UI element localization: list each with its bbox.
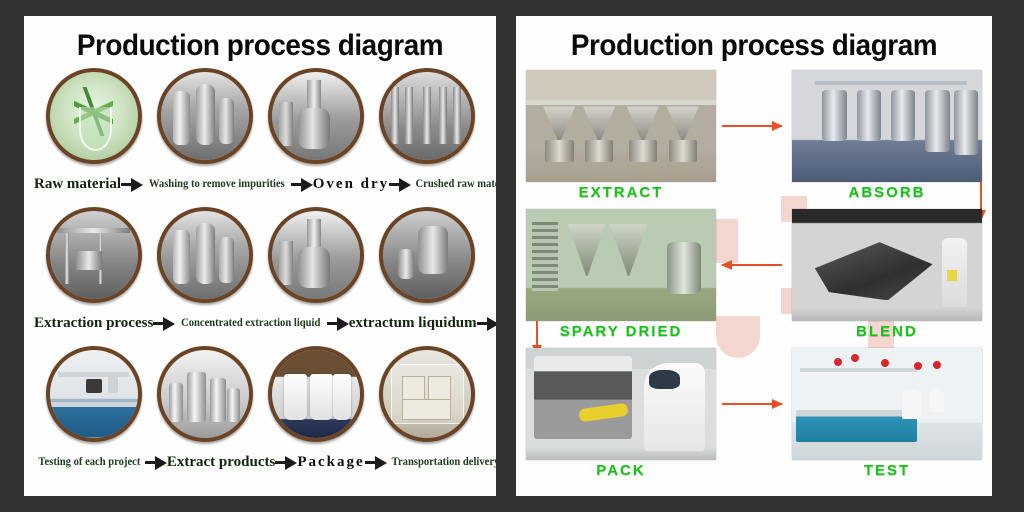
step-label-row: Testing of each project Extract products… (30, 448, 490, 478)
step-image-extract-products (157, 346, 253, 442)
left-step-row: Testing of each project Extract products… (30, 346, 490, 485)
left-step-row: Extraction process Concentrated extracti… (30, 207, 490, 346)
screenshot-stage: Production process diagram (0, 0, 1024, 512)
step-label-testing: Testing of each project (38, 457, 140, 469)
step-image-concentration (157, 207, 253, 303)
caption-pack: PACK (526, 460, 716, 482)
photo-extract (526, 70, 716, 182)
step-image-spray-drying (379, 207, 475, 303)
step-image-extraction (46, 207, 142, 303)
caption-spary-dried: SPARY DRIED (526, 321, 716, 343)
photo-blend (792, 209, 982, 321)
right-step-row: PACK (526, 348, 982, 487)
circle-image-row (30, 68, 490, 168)
arrow-blend-to-spary (722, 259, 782, 271)
right-step-row: SPARY DRIED BLEND (526, 209, 982, 348)
flow-arrow-icon (145, 456, 167, 470)
right-step-pack: PACK (526, 348, 716, 482)
right-step-test: TEST (792, 348, 982, 482)
caption-blend: BLEND (792, 321, 982, 343)
step-label-package: Package (297, 455, 364, 470)
step-label-oven-dry: Oven dry (313, 177, 389, 192)
photo-test (792, 348, 982, 460)
arrow-pack-to-test (722, 398, 782, 410)
flow-arrow-icon (365, 456, 387, 470)
step-image-extractum (268, 207, 364, 303)
flow-arrow-icon (327, 317, 349, 331)
flow-arrow-icon (389, 178, 411, 192)
right-page-title: Production process diagram (533, 30, 976, 62)
photo-spary-dried (526, 209, 716, 321)
flow-arrow-icon (291, 178, 313, 192)
step-label-extraction-process: Extraction process (34, 316, 153, 331)
right-step-absorb: ABSORB (792, 70, 982, 204)
step-image-oven-dry (268, 68, 364, 164)
left-steps-grid: Raw material Washing to remove impuritie… (24, 68, 496, 485)
step-image-washing (157, 68, 253, 164)
right-process-panel: Production process diagram (516, 16, 992, 496)
left-process-panel: Production process diagram (24, 16, 496, 496)
step-label-transportation: Transportation delivery (391, 457, 496, 469)
arrow-extract-to-absorb (722, 120, 782, 132)
step-image-package (268, 346, 364, 442)
caption-absorb: ABSORB (792, 182, 982, 204)
step-label-concentrated-liquid: Concentrated extraction liquid (181, 318, 320, 330)
step-image-crushed (379, 68, 475, 164)
caption-test: TEST (792, 460, 982, 482)
right-step-row: EXTRACT ABSORB (526, 70, 982, 209)
flow-arrow-icon (153, 317, 175, 331)
panel-divider (496, 0, 516, 512)
left-page-title: Production process diagram (41, 30, 480, 62)
step-label-row: Extraction process Concentrated extracti… (30, 309, 490, 339)
left-step-row: Raw material Washing to remove impuritie… (30, 68, 490, 207)
right-steps-grid: EXTRACT ABSORB (516, 68, 992, 487)
step-label-raw-material: Raw material (34, 177, 121, 192)
step-label-crushed: Crushed raw materials (416, 179, 496, 191)
photo-absorb (792, 70, 982, 182)
step-image-testing (46, 346, 142, 442)
step-label-extract-products: Extract products (167, 455, 275, 470)
right-step-spary-dried: SPARY DRIED (526, 209, 716, 343)
right-step-extract: EXTRACT (526, 70, 716, 204)
flow-arrow-icon (275, 456, 297, 470)
flow-arrow-icon (477, 317, 496, 331)
caption-extract: EXTRACT (526, 182, 716, 204)
step-label-row: Raw material Washing to remove impuritie… (30, 170, 490, 200)
circle-image-row (30, 346, 490, 446)
photo-pack (526, 348, 716, 460)
step-image-transportation (379, 346, 475, 442)
step-image-raw-material (46, 68, 142, 164)
flow-arrow-icon (121, 178, 143, 192)
step-label-extractum-liquidum: extractum liquidum (349, 316, 477, 331)
circle-image-row (30, 207, 490, 307)
right-step-blend: BLEND (792, 209, 982, 343)
step-label-washing: Washing to remove impurities (149, 179, 285, 191)
